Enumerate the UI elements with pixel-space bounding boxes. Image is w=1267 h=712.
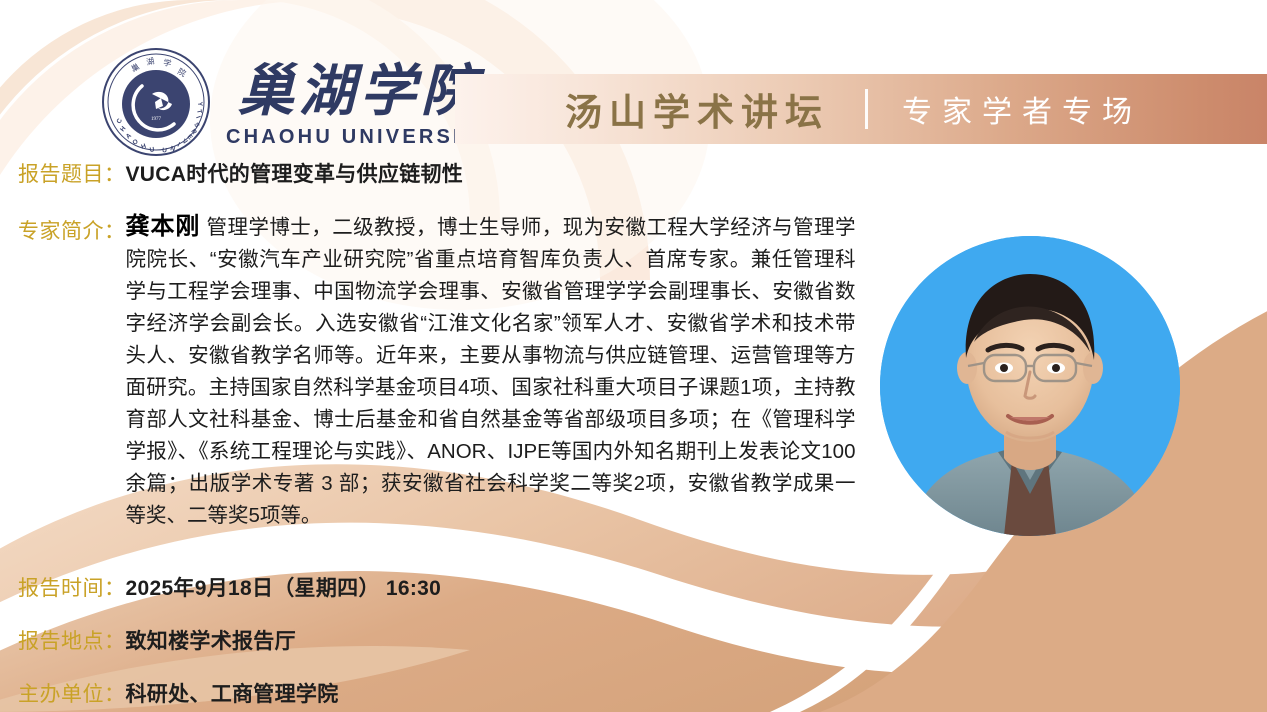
svg-text:湖: 湖 [146,56,156,66]
svg-text:院: 院 [176,66,188,79]
university-name-cn: 巢湖学院 [238,64,482,120]
report-title-value: VUCA时代的管理变革与供应链韧性 [126,158,464,188]
vertical-divider-icon [865,89,868,129]
svg-text:H: H [140,143,147,151]
svg-text:T: T [195,109,203,114]
report-title-label: 报告题目： [18,158,126,188]
forum-title: 汤山学术讲坛 [565,82,829,136]
speaker-portrait-photo [880,236,1180,536]
report-host-value: 科研处、工商管理学院 [126,678,339,708]
forum-banner: 汤山学术讲坛 专家学者专场 [455,74,1267,144]
speaker-bio-body: 龚本刚 管理学博士，二级教授，博士生导师，现为安徽工程大学经济与管理学院院长、“… [126,211,856,532]
svg-text:H: H [119,125,128,133]
speaker-bio-text: 管理学博士，二级教授，博士生导师，现为安徽工程大学经济与管理学院院长、“安徽汽车… [126,216,856,527]
svg-text:I: I [194,115,201,119]
svg-text:巢: 巢 [129,61,141,74]
report-place-value: 致知楼学术报告厅 [126,625,296,655]
speaker-name: 龚本刚 [126,213,201,240]
svg-text:Y: Y [196,102,203,107]
wave-separator-icon [0,523,1267,689]
university-logo: 1977 巢 湖 学 院 C H A O H U U N I V E R S [100,46,494,158]
svg-text:1977: 1977 [151,117,162,122]
speaker-bio-label: 专家简介： [18,211,126,245]
forum-subtitle: 专家学者专场 [902,87,1142,131]
portrait-illustration-icon [880,236,1180,536]
report-host-label: 主办单位： [18,678,126,708]
svg-text:I: I [176,141,181,148]
report-place-label: 报告地点： [18,625,126,655]
speaker-bio-row: 专家简介： 龚本刚 管理学博士，二级教授，博士生导师，现为安徽工程大学经济与管理… [18,211,878,532]
chaohu-university-seal-icon: 1977 巢 湖 学 院 C H A O H U U N I V E R S [100,46,212,158]
svg-text:C: C [116,117,125,125]
report-time-label: 报告时间： [18,572,126,602]
report-place-row: 报告地点： 致知楼学术报告厅 [18,625,296,655]
report-time-row: 报告时间： 2025年9月18日（星期四） 16:30 [18,572,441,602]
report-host-row: 主办单位： 科研处、工商管理学院 [18,678,339,708]
poster-root: 1977 巢 湖 学 院 C H A O H U U N I V E R S [0,0,1267,712]
svg-text:O: O [132,138,140,147]
svg-text:学: 学 [163,57,173,68]
svg-text:U: U [149,146,155,154]
university-name-en: CHAOHU UNIVERSITY [226,127,494,147]
report-title-row: 报告题目： VUCA时代的管理变革与供应链韧性 [18,158,463,188]
report-time-value: 2025年9月18日（星期四） 16:30 [126,572,442,602]
